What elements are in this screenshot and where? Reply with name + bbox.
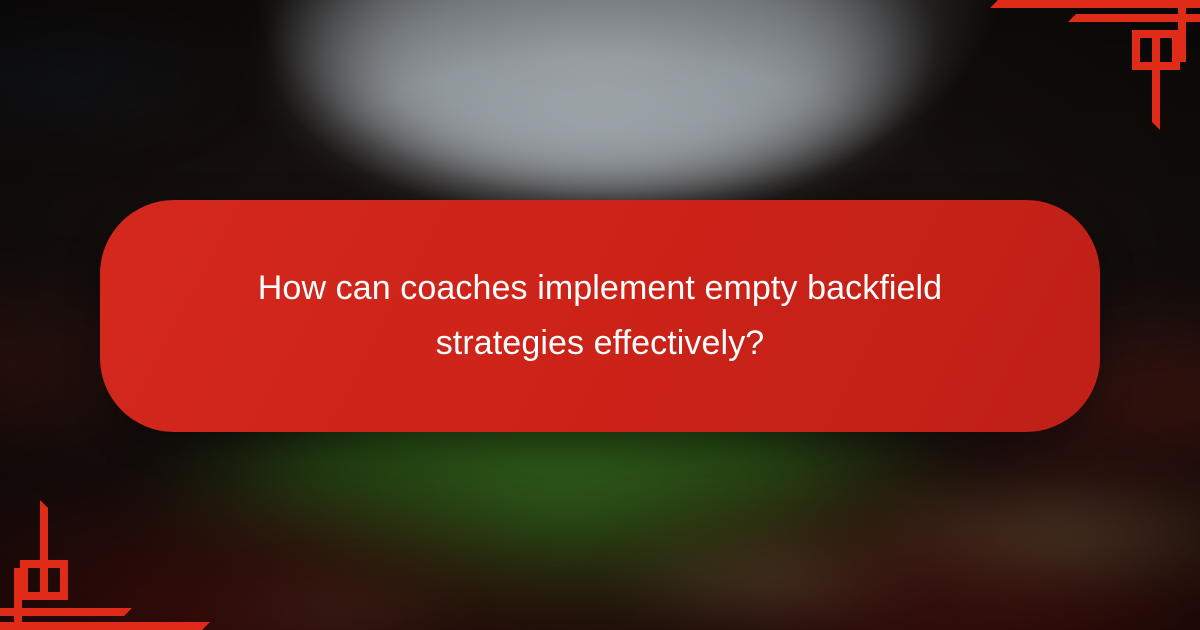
corner-ornament-top-right	[990, 0, 1200, 145]
corner-ornament-bottom-left	[0, 485, 210, 630]
question-card: How can coaches implement empty backfiel…	[100, 200, 1100, 432]
question-card-graphic: How can coaches implement empty backfiel…	[0, 0, 1200, 630]
question-text: How can coaches implement empty backfiel…	[195, 261, 1005, 371]
